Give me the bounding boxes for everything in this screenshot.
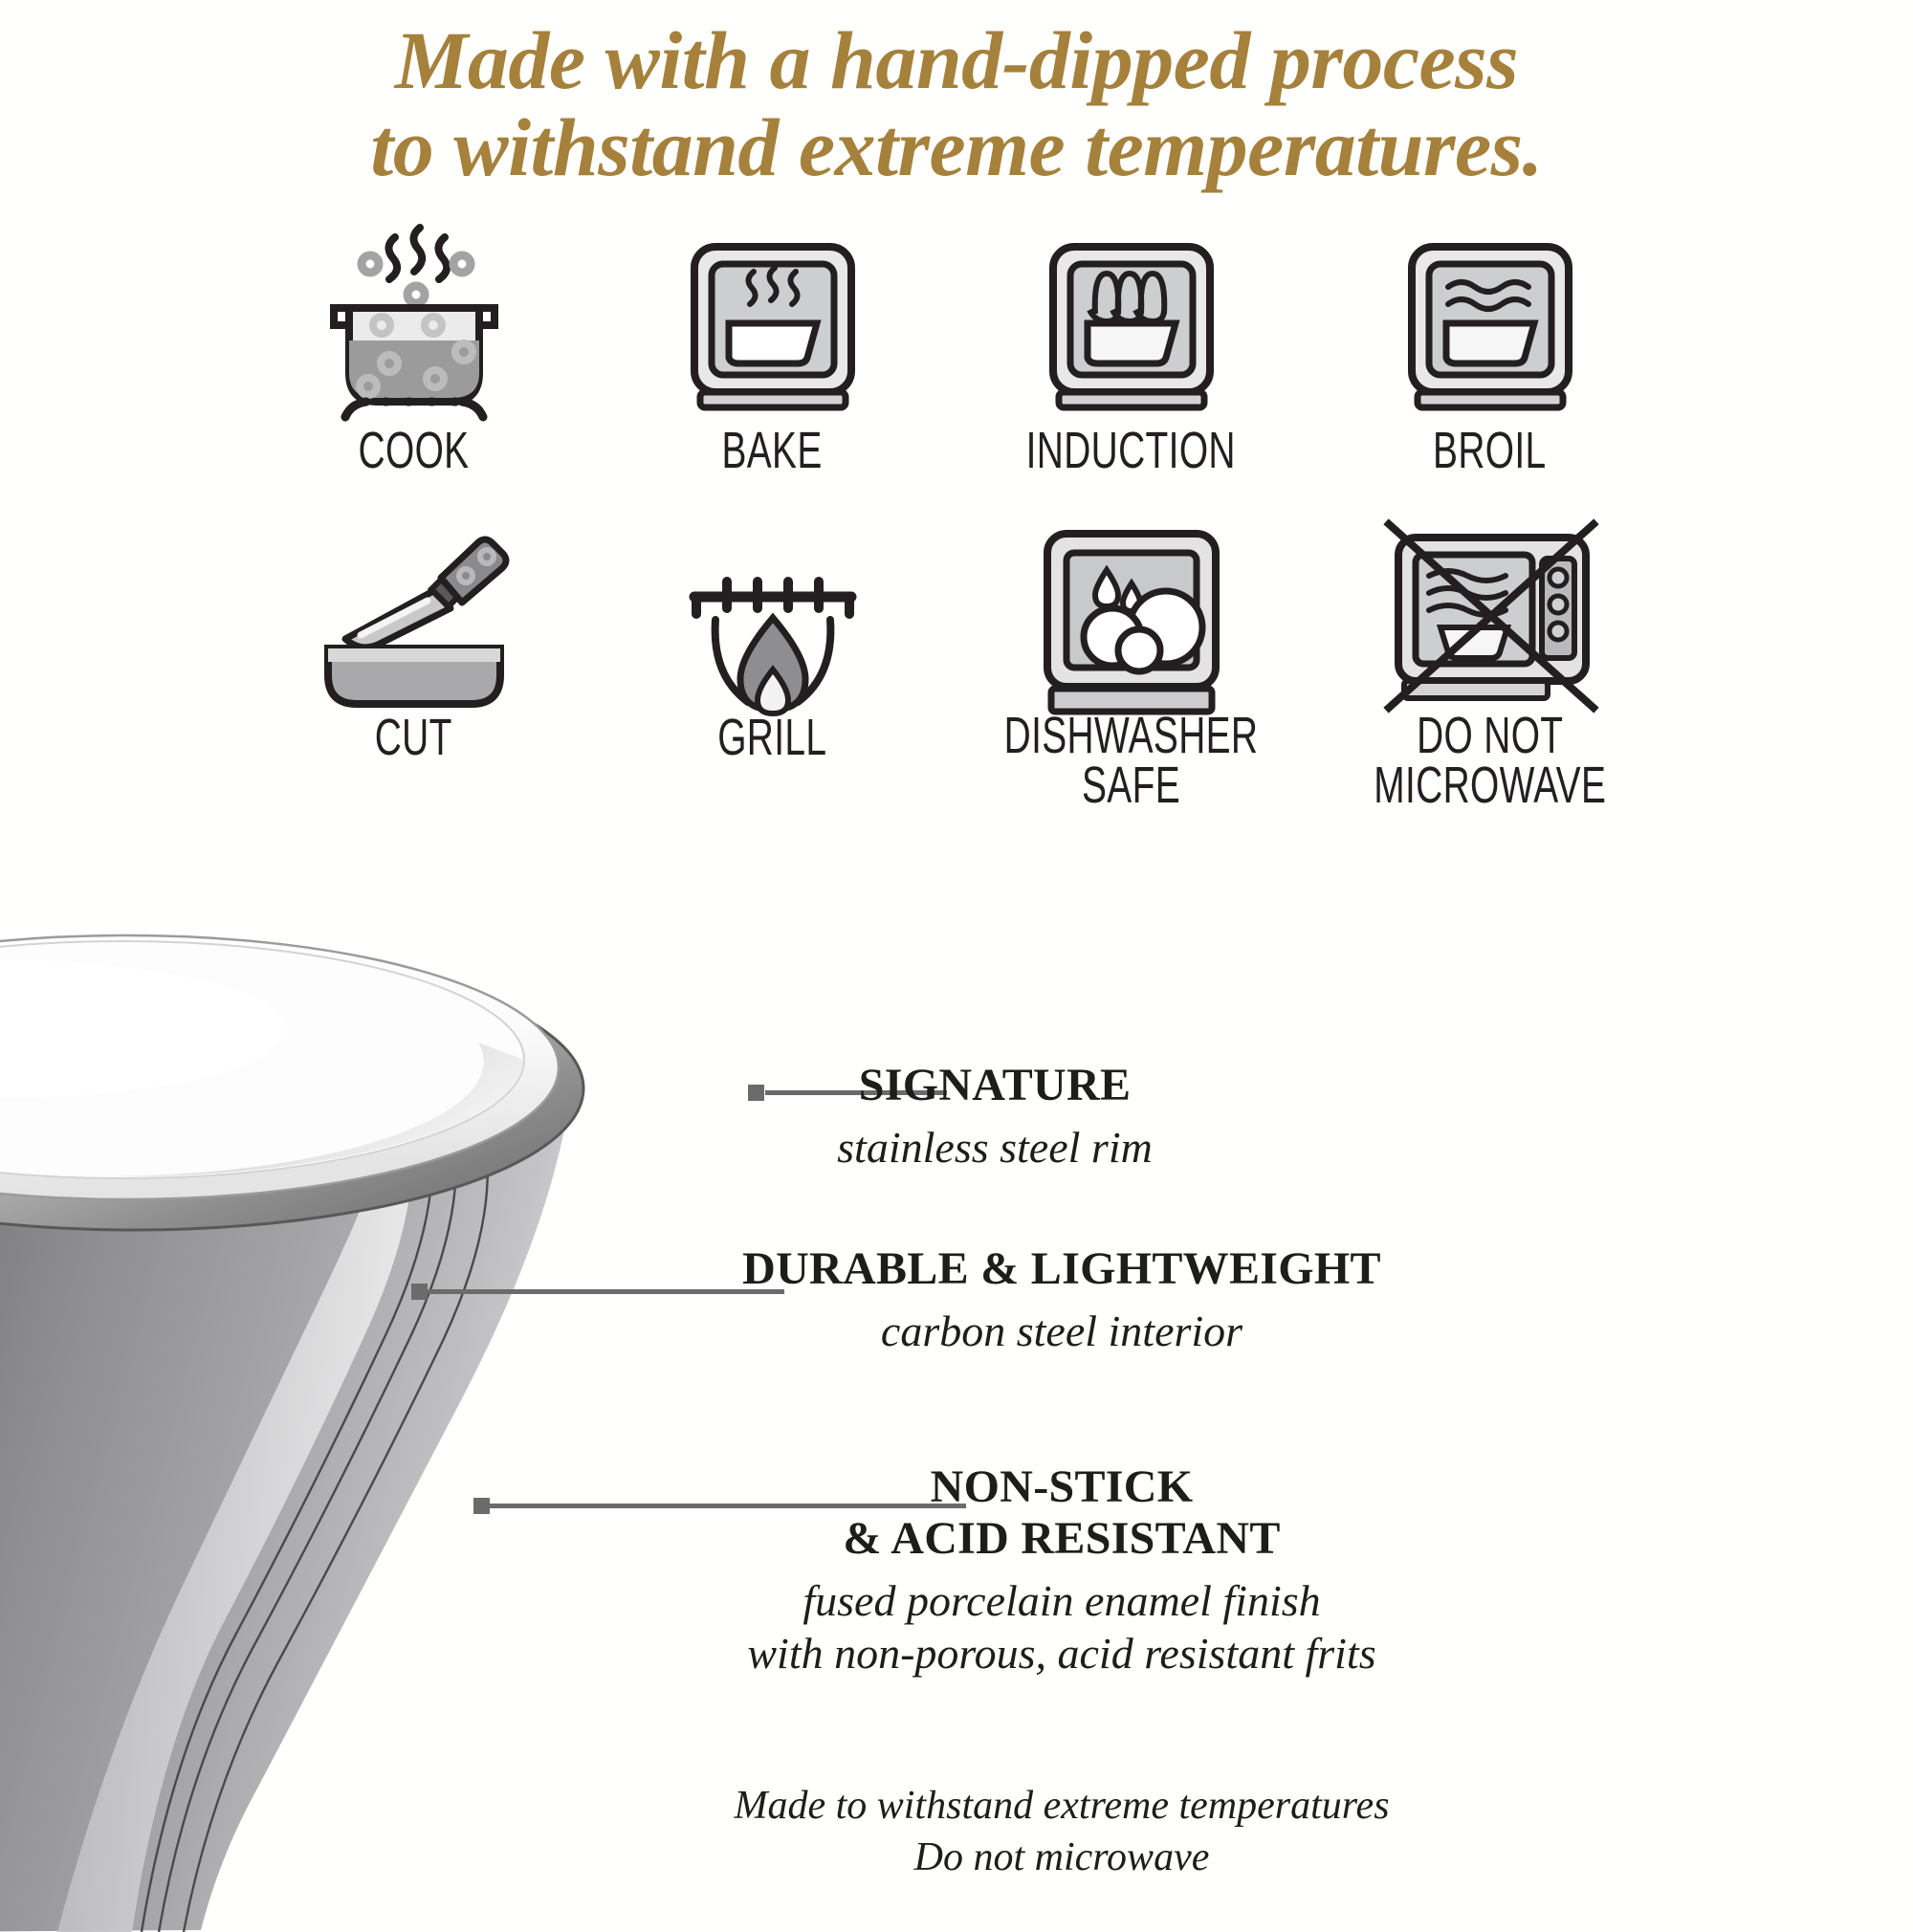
capability-bake-label: BAKE — [722, 427, 823, 476]
pan-illustration — [0, 803, 803, 1932]
microwave-crossed-out-icon — [1366, 516, 1615, 708]
knife-on-pan-icon — [290, 516, 539, 708]
capability-cook: COOK — [234, 230, 593, 516]
dishwasher-icon — [1007, 516, 1256, 708]
oven-broil-waves-icon — [1366, 230, 1615, 421]
callout-durable-subtitle: carbon steel interior — [612, 1305, 1511, 1357]
footnote-text: Made to withstand extreme temperatures D… — [612, 1781, 1511, 1884]
capability-dishwasher-safe: DISHWASHER SAFE — [952, 516, 1310, 832]
callout-signature: SIGNATURE stainless steel rim — [660, 1060, 1330, 1174]
callout-nonstick-subtitle: fused porcelain enamel finish with non-p… — [612, 1574, 1511, 1680]
page-title-line-2: to withstand extreme temperatures. — [0, 104, 1913, 191]
capability-induction: INDUCTION — [952, 230, 1310, 516]
callout-durable-title: DURABLE & LIGHTWEIGHT — [612, 1243, 1511, 1295]
callout-nonstick: NON-STICK & ACID RESISTANT fused porcela… — [612, 1461, 1511, 1680]
capability-cut: CUT — [234, 516, 593, 832]
capability-induction-label: INDUCTION — [1026, 427, 1236, 476]
capability-broil: BROIL — [1310, 230, 1669, 516]
leader-dot-durable — [411, 1284, 428, 1300]
page-title-line-1: Made with a hand-dipped process — [395, 14, 1518, 106]
callout-signature-subtitle: stainless steel rim — [660, 1121, 1330, 1174]
capability-do-not-microwave: DO NOT MICROWAVE — [1310, 516, 1669, 832]
capability-bake: BAKE — [593, 230, 952, 516]
capability-cut-label: CUT — [375, 714, 452, 763]
capability-grill: GRILL — [593, 516, 952, 832]
capability-cook-label: COOK — [359, 427, 470, 476]
capability-do-not-microwave-label: DO NOT MICROWAVE — [1374, 712, 1606, 811]
callout-signature-title: SIGNATURE — [660, 1060, 1330, 1111]
grill-grate-flame-icon — [649, 516, 897, 708]
pot-with-steam-icon — [290, 230, 539, 421]
capability-dishwasher-safe-label: DISHWASHER SAFE — [1004, 712, 1259, 811]
leader-dot-nonstick — [473, 1498, 490, 1514]
capability-broil-label: BROIL — [1433, 427, 1546, 476]
page-title: Made with a hand-dipped process to withs… — [0, 17, 1913, 191]
callout-nonstick-title: NON-STICK & ACID RESISTANT — [612, 1461, 1511, 1565]
callout-durable: DURABLE & LIGHTWEIGHT carbon steel inter… — [612, 1243, 1511, 1357]
oven-induction-coil-icon — [1007, 230, 1256, 421]
capability-icon-grid: COOK BAKE — [234, 230, 1669, 832]
capability-grill-label: GRILL — [717, 714, 826, 763]
oven-bake-icon — [649, 230, 897, 421]
